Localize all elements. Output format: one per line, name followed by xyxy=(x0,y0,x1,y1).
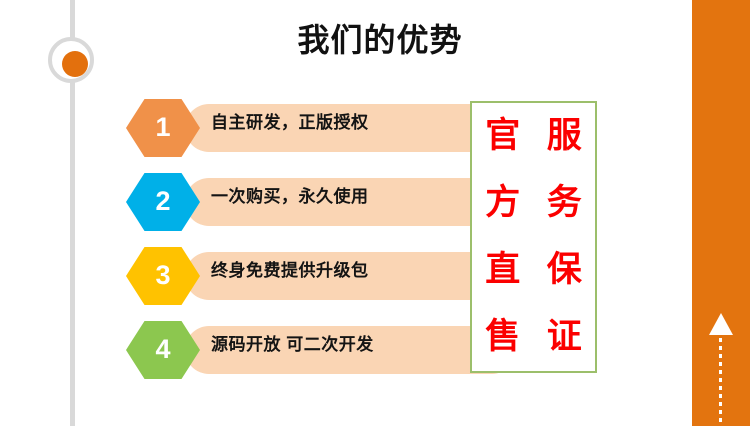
advantage-hexagon-3: 3 xyxy=(126,247,200,305)
slogan-char-6: 保 xyxy=(547,253,582,288)
slogan-char-1: 官 xyxy=(485,119,520,154)
advantage-number-1: 1 xyxy=(155,114,170,143)
advantage-number-3: 3 xyxy=(155,262,170,291)
right-accent-bar xyxy=(692,0,750,426)
slogan-char-8: 证 xyxy=(547,320,582,355)
slide-canvas: 我们的优势 自主研发，正版授权 1 一次购买，永久使用 2 终身免费提供升级包 … xyxy=(0,0,750,426)
advantage-label-4: 源码开放 可二次开发 xyxy=(211,321,374,369)
triangle-up-icon xyxy=(709,313,733,335)
slogan-char-2: 服 xyxy=(547,119,582,154)
slogan-char-3: 方 xyxy=(485,186,520,221)
advantage-label-2: 一次购买，永久使用 xyxy=(211,173,369,221)
slogan-char-7: 售 xyxy=(485,320,520,355)
slogan-char-5: 直 xyxy=(485,253,520,288)
timeline-marker-dot xyxy=(62,51,88,77)
advantage-number-2: 2 xyxy=(155,188,170,217)
slogan-char-4: 务 xyxy=(547,186,582,221)
advantage-label-3: 终身免费提供升级包 xyxy=(211,247,369,295)
advantage-hexagon-4: 4 xyxy=(126,321,200,379)
advantage-hexagon-1: 1 xyxy=(126,99,200,157)
advantage-hexagon-2: 2 xyxy=(126,173,200,231)
dotted-line-decoration xyxy=(719,338,722,426)
timeline-marker xyxy=(48,37,94,83)
page-title: 我们的优势 xyxy=(250,22,510,59)
slogan-box: 官 服 方 务 直 保 售 证 xyxy=(470,101,597,373)
advantage-number-4: 4 xyxy=(155,336,170,365)
advantage-label-1: 自主研发，正版授权 xyxy=(211,99,369,147)
